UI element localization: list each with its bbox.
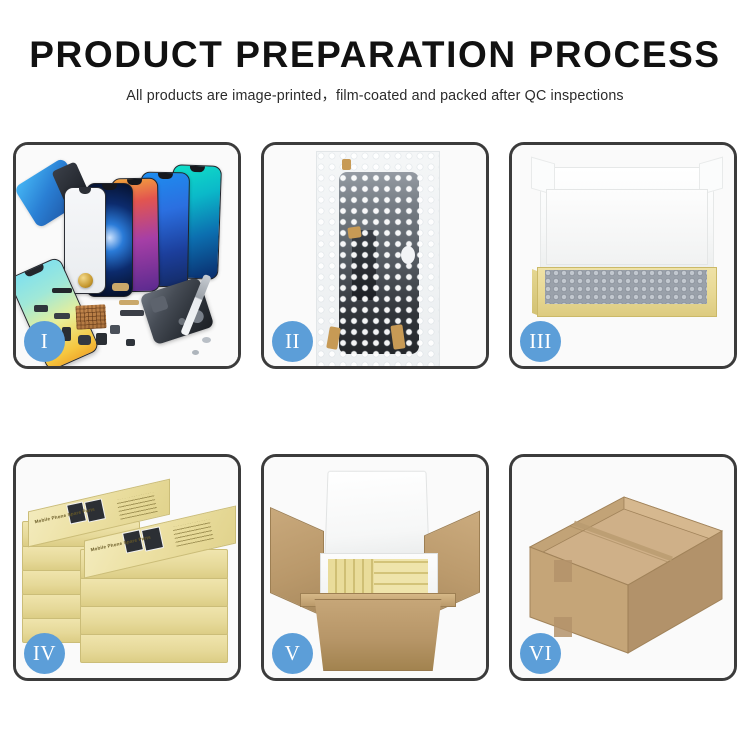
spare-part-icon: [34, 305, 48, 312]
spare-part-icon: [52, 288, 72, 293]
spare-part-icon: [126, 339, 135, 346]
stacked-box: [80, 633, 228, 663]
step-badge-1: I: [24, 321, 65, 362]
foam-sheet-icon: [546, 189, 708, 265]
step-badge-6: VI: [520, 633, 561, 674]
step-panel-open-inner-box[interactable]: III: [509, 142, 737, 369]
step-panel-sealed-carton[interactable]: VI: [509, 454, 737, 681]
page-header: PRODUCT PREPARATION PROCESS All products…: [0, 0, 750, 105]
spare-part-icon: [112, 283, 129, 291]
stacked-box: [80, 577, 228, 607]
spare-part-icon: [119, 300, 139, 305]
screw-icon: [192, 350, 199, 355]
spare-part-icon: [110, 325, 120, 334]
spare-part-icon: [78, 335, 91, 345]
carton-body: [306, 599, 450, 671]
process-steps-grid: I II III: [13, 142, 737, 681]
step-badge-3: III: [520, 321, 561, 362]
step-panel-bubble-wrapped-screen[interactable]: II: [261, 142, 489, 369]
step-badge-2: II: [272, 321, 313, 362]
tape-piece-icon: [342, 159, 351, 170]
page-title: PRODUCT PREPARATION PROCESS: [0, 36, 750, 75]
step-badge-4: IV: [24, 633, 65, 674]
copper-mesh-part-icon: [75, 304, 106, 330]
bubble-wrap-contents-icon: [545, 270, 707, 304]
tape-piece-icon: [347, 226, 361, 239]
spare-part-icon: [54, 313, 70, 319]
spare-part-icon: [96, 333, 107, 345]
gold-component-icon: [78, 273, 93, 288]
step-panel-phones-and-parts[interactable]: I: [13, 142, 241, 369]
stacked-box: [80, 605, 228, 635]
foam-blob: [401, 246, 415, 264]
page-subtitle: All products are image-printed，film-coat…: [0, 84, 750, 105]
foam-cooler-lid-icon: [324, 471, 429, 560]
step-panel-carton-with-foam-liner[interactable]: V: [261, 454, 489, 681]
spare-part-icon: [120, 310, 144, 316]
step-panel-stacked-boxes[interactable]: Mobile Phone Spare Parts Mobile Phone Sp…: [13, 454, 241, 681]
screw-icon: [202, 337, 211, 343]
step-badge-5: V: [272, 633, 313, 674]
